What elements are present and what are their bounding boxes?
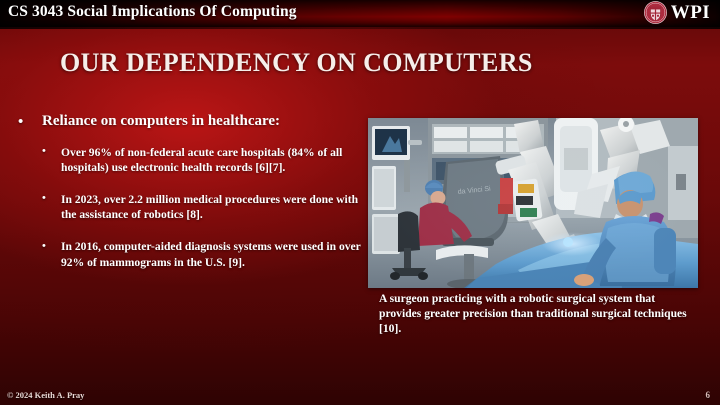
wpi-seal-icon	[644, 1, 667, 24]
surgery-photo: da Vinci Si	[368, 118, 698, 288]
bullet-level2-text: Over 96% of non-federal acute care hospi…	[61, 146, 342, 174]
bullet-level1-text: Reliance on computers in healthcare:	[42, 113, 280, 129]
slide-body: • Reliance on computers in healthcare: •…	[14, 112, 364, 270]
picture-caption: A surgeon practicing with a robotic surg…	[379, 291, 699, 336]
bullet-marker: •	[42, 144, 46, 158]
bullet-level2: • In 2016, computer-aided diagnosis syst…	[40, 239, 364, 269]
bullet-marker: •	[18, 113, 23, 132]
bullet-level2-text: In 2023, over 2.2 million medical proced…	[61, 193, 358, 221]
wpi-wordmark: WPI	[671, 1, 710, 24]
slide-page-number: 6	[706, 390, 711, 400]
bullet-level2-text: In 2016, computer-aided diagnosis system…	[61, 240, 361, 268]
bullet-level2: • In 2023, over 2.2 million medical proc…	[40, 192, 364, 222]
slide-title: OUR DEPENDENCY ON COMPUTERS	[60, 48, 533, 78]
bullet-marker: •	[42, 191, 46, 205]
bullet-level2: • Over 96% of non-federal acute care hos…	[40, 145, 364, 175]
bullet-sublist: • Over 96% of non-federal acute care hos…	[14, 145, 364, 269]
slide-header-bar: CS 3043 Social Implications Of Computing…	[0, 0, 720, 27]
operating-room-illustration: da Vinci Si	[368, 118, 698, 288]
course-title: CS 3043 Social Implications Of Computing	[8, 3, 297, 21]
slide-canvas: CS 3043 Social Implications Of Computing…	[0, 0, 720, 405]
bullet-marker: •	[42, 239, 46, 253]
wpi-logo: WPI	[644, 1, 710, 24]
bullet-level1: • Reliance on computers in healthcare:	[14, 112, 364, 131]
footer-copyright: © 2024 Keith A. Pray	[7, 390, 84, 400]
